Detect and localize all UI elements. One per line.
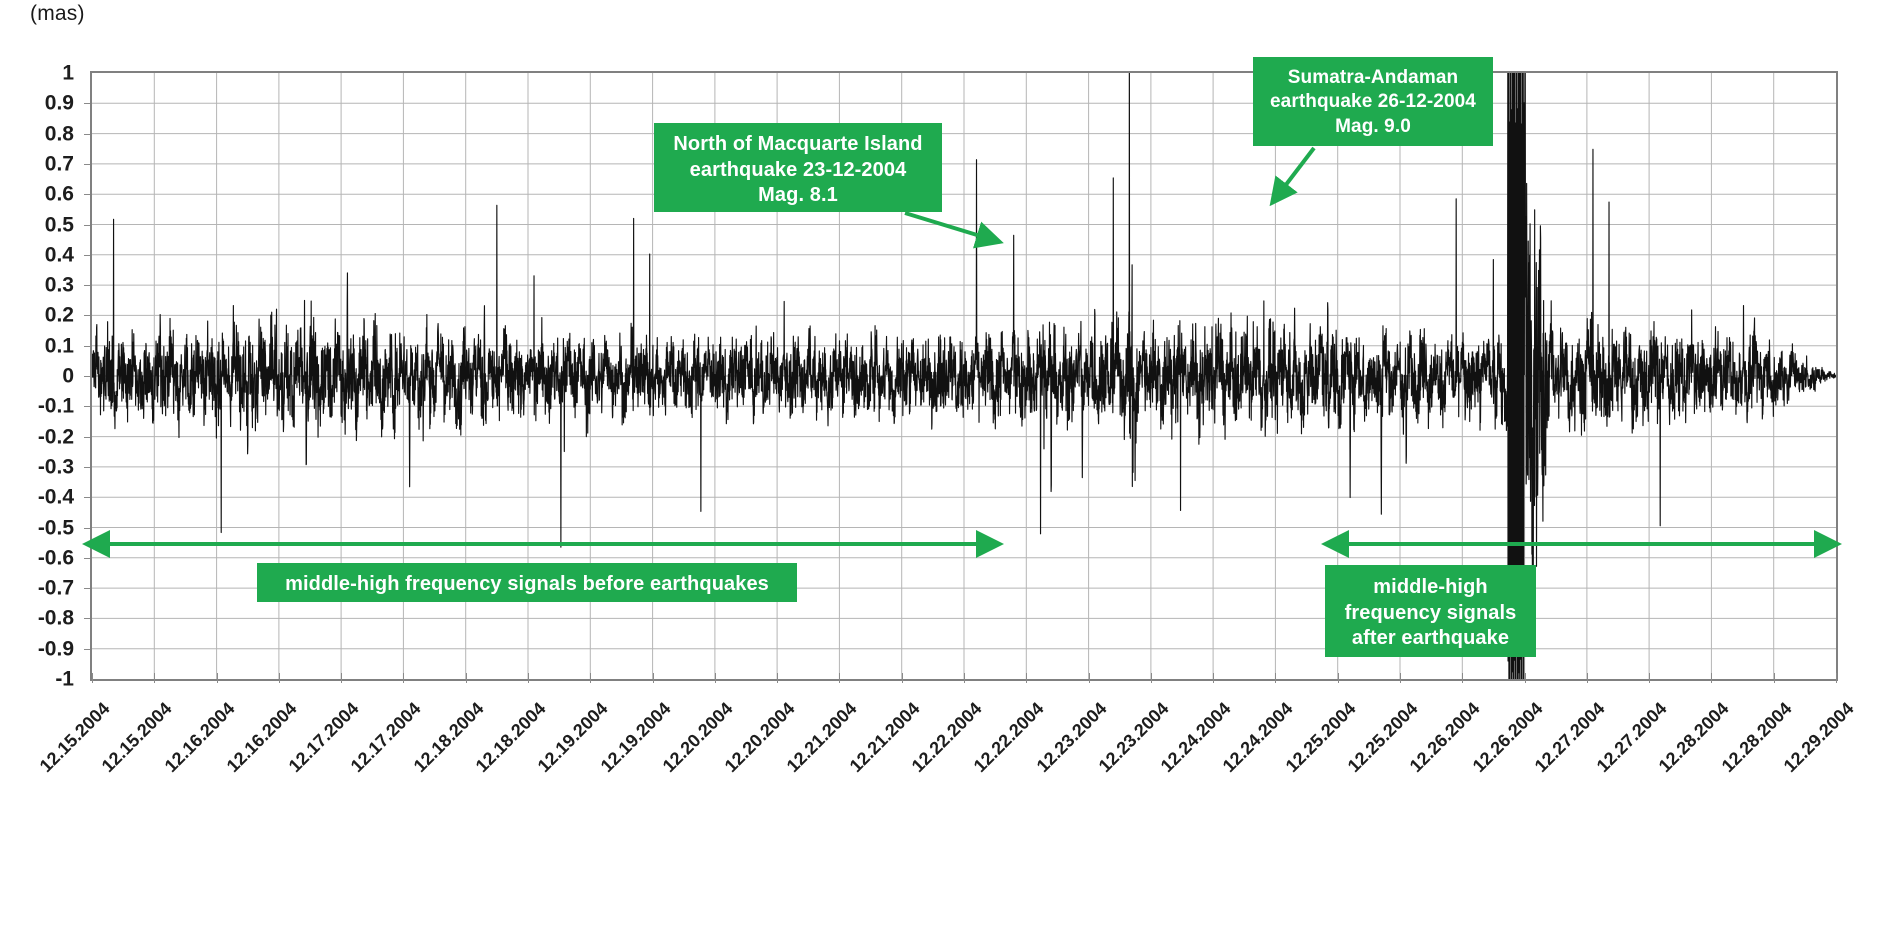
x-axis-tick-mark (1525, 673, 1526, 683)
x-axis-tick-mark (1649, 673, 1650, 683)
callout-before-earthquakes: middle-high frequency signals before ear… (257, 563, 797, 602)
y-axis-tick-label: 0.6 (45, 184, 74, 205)
x-axis-tick-mark (403, 673, 404, 683)
y-axis-tick-label: 0.9 (45, 93, 74, 114)
callout-after-line3: after earthquake (1331, 626, 1530, 652)
y-axis-tick-label: 0.7 (45, 153, 74, 174)
y-axis-tick-label: -0.2 (38, 426, 74, 447)
seismic-residual-figure: (mas) 10.90.80.70.60.50.40.30.20.10-0.1-… (0, 0, 1890, 939)
x-axis-tick-mark (1026, 673, 1027, 683)
x-axis: 12.15.200412.15.200412.16.200412.16.2004… (90, 683, 1838, 933)
callout-before-line1: middle-high frequency signals before ear… (263, 572, 791, 598)
x-axis-tick-mark (341, 673, 342, 683)
x-axis-tick-mark (777, 673, 778, 683)
y-axis-tick-label: 0.5 (45, 214, 74, 235)
x-axis-tick-mark (1400, 673, 1401, 683)
callout-macquarie-line1: North of Macquarte Island (660, 132, 936, 158)
y-axis-tick-label: -1 (55, 669, 74, 690)
x-axis-tick-mark (1836, 673, 1837, 683)
x-axis-tick-mark (1587, 673, 1588, 683)
callout-macquarie-line3: Mag. 8.1 (660, 183, 936, 209)
y-axis-tick-label: -0.6 (38, 547, 74, 568)
callout-sumatra-line3: Mag. 9.0 (1258, 115, 1488, 139)
x-axis-tick-mark (964, 673, 965, 683)
callout-sumatra-line2: earthquake 26-12-2004 (1258, 90, 1488, 114)
x-axis-tick-mark (154, 673, 155, 683)
y-axis-unit-label: (mas) (30, 2, 85, 26)
callout-after-line2: frequency signals (1331, 601, 1530, 627)
x-axis-tick-mark (1774, 673, 1775, 683)
callout-after-earthquake: middle-high frequency signals after eart… (1325, 565, 1536, 657)
y-axis-tick-label: -0.4 (38, 487, 74, 508)
y-axis-tick-label: 0.2 (45, 305, 74, 326)
x-axis-tick-mark (279, 673, 280, 683)
y-axis-tick-label: 0.3 (45, 275, 74, 296)
y-axis-tick-label: 0.4 (45, 244, 74, 265)
x-axis-tick-mark (715, 673, 716, 683)
y-axis-tick-label: -0.9 (38, 638, 74, 659)
x-axis-tick-mark (590, 673, 591, 683)
x-axis-tick-mark (1711, 673, 1712, 683)
x-axis-tick-mark (1338, 673, 1339, 683)
x-axis-tick-mark (92, 673, 93, 683)
x-axis-tick-mark (653, 673, 654, 683)
x-axis-tick-mark (1089, 673, 1090, 683)
x-axis-tick-mark (902, 673, 903, 683)
y-axis: 10.90.80.70.60.50.40.30.20.10-0.1-0.2-0.… (0, 71, 84, 681)
x-axis-tick-mark (839, 673, 840, 683)
callout-macquarie-earthquake: North of Macquarte Island earthquake 23-… (654, 123, 942, 212)
callout-macquarie-line2: earthquake 23-12-2004 (660, 158, 936, 184)
y-axis-tick-label: -0.5 (38, 517, 74, 538)
y-axis-tick-label: -0.7 (38, 578, 74, 599)
callout-after-line1: middle-high (1331, 575, 1530, 601)
y-axis-tick-label: 1 (62, 63, 74, 84)
y-axis-tick-label: -0.8 (38, 608, 74, 629)
y-axis-tick-label: 0 (62, 366, 74, 387)
x-axis-tick-mark (1462, 673, 1463, 683)
callout-sumatra-line1: Sumatra-Andaman (1258, 66, 1488, 90)
x-axis-tick-mark (217, 673, 218, 683)
y-axis-tick-label: -0.1 (38, 396, 74, 417)
x-axis-tick-mark (466, 673, 467, 683)
x-axis-tick-mark (1275, 673, 1276, 683)
x-axis-tick-mark (1213, 673, 1214, 683)
x-axis-tick-mark (528, 673, 529, 683)
y-axis-tick-label: 0.1 (45, 335, 74, 356)
y-axis-tick-label: -0.3 (38, 456, 74, 477)
x-axis-tick-mark (1151, 673, 1152, 683)
y-axis-tick-label: 0.8 (45, 123, 74, 144)
callout-sumatra-earthquake: Sumatra-Andaman earthquake 26-12-2004 Ma… (1253, 57, 1493, 146)
